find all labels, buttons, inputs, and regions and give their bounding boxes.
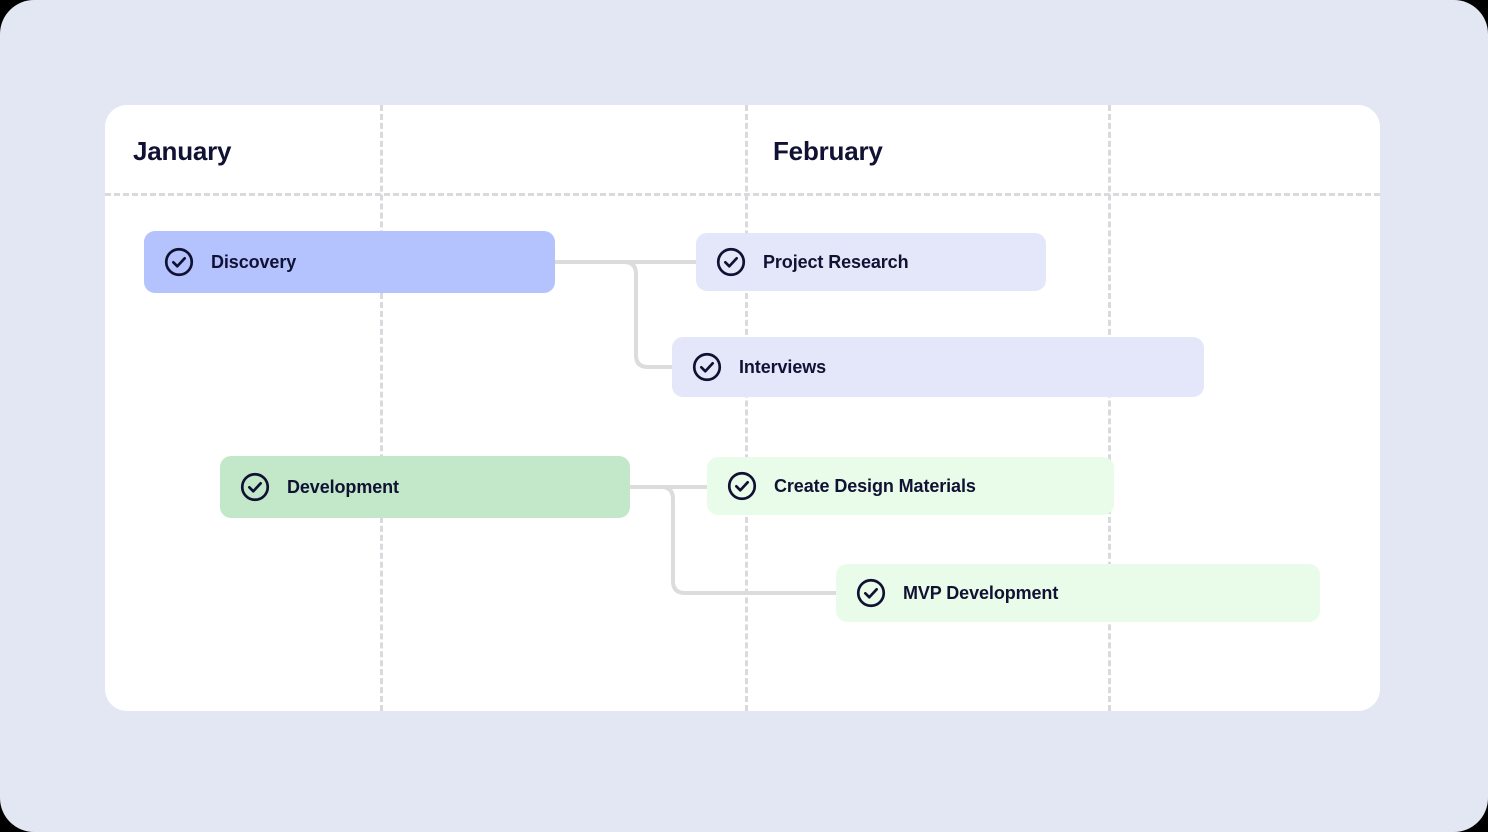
gridline-horizontal: [105, 193, 1380, 196]
check-circle-icon: [238, 470, 272, 504]
task-label-development: Development: [287, 477, 399, 498]
task-bar-development[interactable]: Development: [220, 456, 630, 518]
month-header-february: February: [773, 136, 883, 167]
task-label-create-design-materials: Create Design Materials: [774, 476, 976, 497]
task-label-discovery: Discovery: [211, 252, 296, 273]
check-circle-icon: [725, 469, 759, 503]
task-bar-interviews[interactable]: Interviews: [672, 337, 1204, 397]
task-bar-mvp-development[interactable]: MVP Development: [836, 564, 1320, 622]
task-bar-discovery[interactable]: Discovery: [144, 231, 555, 293]
task-label-project-research: Project Research: [763, 252, 908, 273]
month-header-january: January: [133, 136, 231, 167]
check-circle-icon: [714, 245, 748, 279]
task-bar-project-research[interactable]: Project Research: [696, 233, 1046, 291]
task-label-interviews: Interviews: [739, 357, 826, 378]
task-label-mvp-development: MVP Development: [903, 583, 1058, 604]
task-bar-create-design-materials[interactable]: Create Design Materials: [707, 457, 1114, 515]
check-circle-icon: [690, 350, 724, 384]
timeline-page: January February Discovery: [0, 0, 1488, 832]
check-circle-icon: [854, 576, 888, 610]
check-circle-icon: [162, 245, 196, 279]
